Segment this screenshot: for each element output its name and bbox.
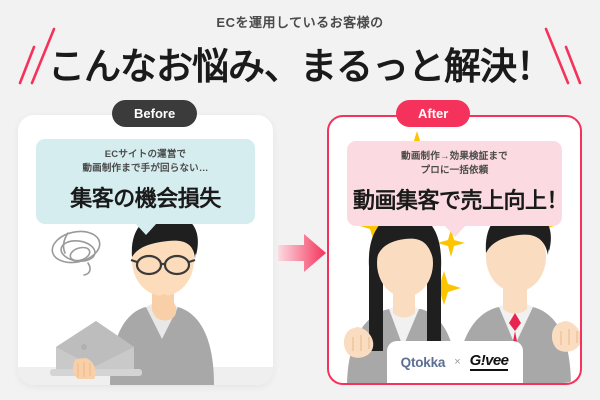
poster-canvas: ECを運用しているお客様の こんなお悩み、まるっと解決！ <box>0 0 600 400</box>
before-text-panel: ECサイトの運営で 動画制作まで手が回らない… 集客の機会損失 <box>36 139 255 224</box>
givee-logo: G!vee <box>470 353 509 371</box>
before-lead-line2: 動画制作まで手が回らない… <box>42 162 249 176</box>
before-lead-line1: ECサイトの運営で <box>42 148 249 162</box>
after-text-panel: 動画制作→効果検証まで プロに一括依頼 動画集客で売上向上！ <box>347 141 562 226</box>
before-card: ECサイトの運営で 動画制作まで手が回らない… 集客の機会損失 <box>18 115 273 385</box>
after-lead-line1: 動画制作→効果検証まで <box>353 150 556 164</box>
transition-arrow-icon <box>278 232 326 274</box>
header: ECを運用しているお客様の こんなお悩み、まるっと解決！ <box>0 0 600 95</box>
logo-separator-icon: × <box>454 356 460 368</box>
before-headline: 集客の機会損失 <box>42 181 249 213</box>
before-badge: Before <box>112 100 197 127</box>
after-panel-tail <box>444 225 466 237</box>
after-lead-line2: プロに一括依頼 <box>353 164 556 178</box>
header-subtitle: ECを運用しているお客様の <box>0 12 600 31</box>
page-title: こんなお悩み、まるっと解決！ <box>0 36 600 90</box>
after-badge: After <box>396 100 470 127</box>
brand-logo-strip: Qtokka × G!vee <box>387 341 523 383</box>
qtokka-logo: Qtokka <box>401 355 446 370</box>
before-panel-tail <box>135 223 157 235</box>
after-headline: 動画集客で売上向上！ <box>353 183 556 215</box>
after-card: 動画制作→効果検証まで プロに一括依頼 動画集客で売上向上！ Qtokka × … <box>327 115 582 385</box>
